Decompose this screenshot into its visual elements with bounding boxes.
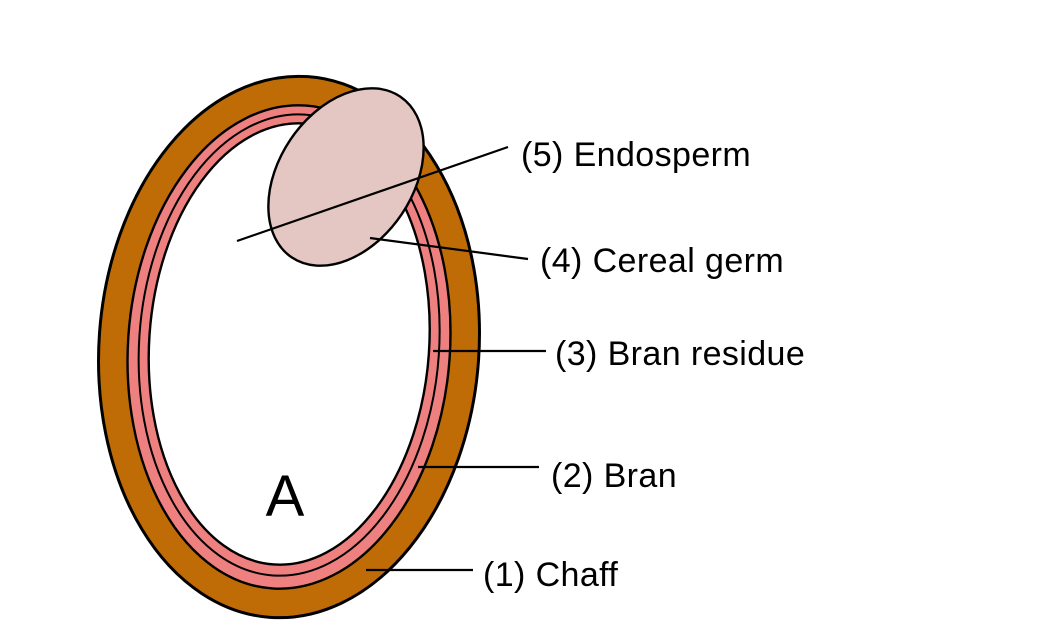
label-endosperm: (5) Endosperm — [521, 136, 751, 174]
label-bran-residue: (3) Bran residue — [555, 335, 805, 373]
label-bran: (2) Bran — [551, 457, 677, 495]
panel-letter: A — [266, 464, 305, 529]
diagram-canvas: A (5) Endosperm (4) Cereal germ (3) Bran… — [0, 0, 1048, 643]
label-chaff: (1) Chaff — [483, 556, 618, 594]
cereal-grain-diagram: A (5) Endosperm (4) Cereal germ (3) Bran… — [0, 0, 1048, 643]
label-cereal-germ: (4) Cereal germ — [540, 242, 784, 280]
